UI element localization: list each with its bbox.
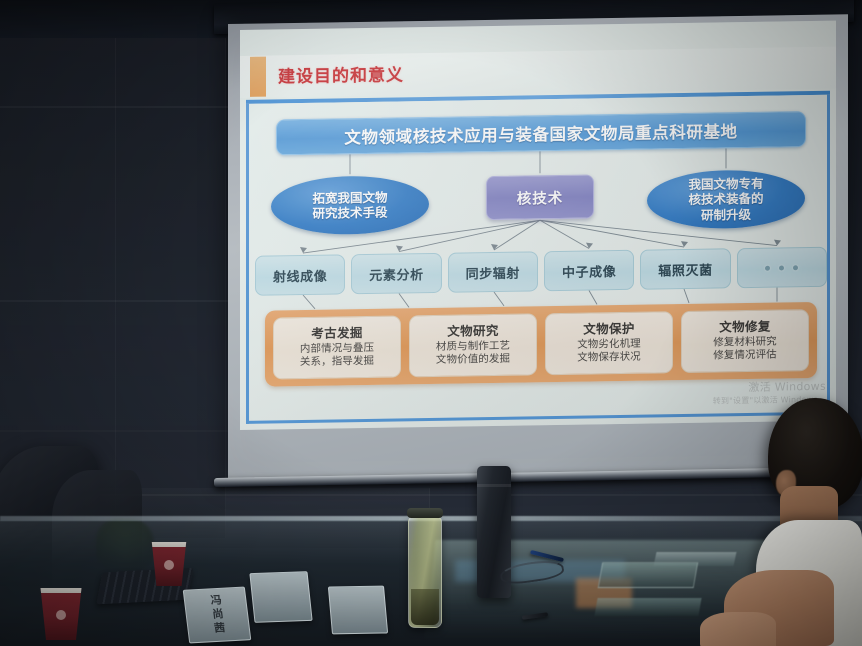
thermos-band [477,484,511,487]
tech-label-4: 中子成像 [562,261,616,281]
app-sub-3a: 文物劣化机理 [577,338,641,352]
tech-box-xray-imaging: 射线成像 [255,254,345,295]
core-technology-label: 核技术 [517,186,564,208]
glass-tea-bottle [408,516,442,628]
tech-box-more [737,247,827,288]
app-title-4: 文物修复 [719,320,771,336]
slide-content-frame: 文物领域核技术应用与装备国家文物局重点科研基地 拓宽我国文物 研究技术手段 核技… [246,95,830,424]
meeting-room-photo: 建设目的和意义 [0,0,862,646]
app-sub-1a: 内部情况与叠压 [300,342,374,356]
desk-nameplate-1: 冯尚茜 [183,587,252,644]
application-card-conservation: 文物保护 文物劣化机理 文物保存状况 [545,311,673,375]
goal-left-line-1: 拓宽我国文物 [312,189,387,205]
goal-right-line-2: 核技术装备的 [688,191,763,207]
wall-seam-upper [0,106,232,108]
cup-logo-icon [164,560,174,570]
tech-label-3: 同步辐射 [466,262,520,282]
attendee-hand [700,612,776,646]
goal-node-left: 拓宽我国文物 研究技术手段 [271,175,429,235]
app-sub-1b: 关系，指导发掘 [300,355,374,369]
goal-node-right: 我国文物专有 核技术装备的 研制升级 [647,169,805,229]
watermark-line-1: 激活 Windows [713,378,826,396]
application-band: 考古发掘 内部情况与叠压 关系，指导发掘 文物研究 材质与制作工艺 文物价值的发… [265,302,817,387]
tech-box-element-analysis: 元素分析 [351,253,441,294]
wall-seam-mid [0,300,232,302]
ellipsis-dots-icon [765,265,798,271]
app-title-3: 文物保护 [583,322,635,338]
application-card-archaeology: 考古发掘 内部情况与叠压 关系，指导发掘 [273,315,401,379]
application-card-restoration: 文物修复 修复材料研究 修复情况评估 [681,309,809,373]
tech-label-1: 射线成像 [273,265,327,285]
goal-left-line-2: 研究技术手段 [312,205,387,221]
tea-leaves [411,589,439,625]
tech-box-neutron-imaging: 中子成像 [544,250,634,291]
app-title-2: 文物研究 [447,324,499,340]
tech-label-5: 辐照灭菌 [658,259,712,279]
tech-box-synchrotron-radiation: 同步辐射 [448,251,538,292]
goal-right-line-1: 我国文物专有 [688,176,763,192]
nameplate-text-1: 冯尚茜 [206,594,227,637]
app-sub-4b: 修复情况评估 [713,348,777,362]
notebook [598,562,699,588]
slide-title: 建设目的和意义 [278,60,404,87]
app-sub-2b: 文物价值的发掘 [436,353,510,367]
desk-nameplate-3 [328,586,388,635]
notebook-second [594,598,701,616]
app-sub-4a: 修复材料研究 [713,336,777,350]
tea-bottle-cap [407,508,443,518]
application-card-research: 文物研究 材质与制作工艺 文物价值的发掘 [409,313,537,377]
wall-panel-2 [116,38,226,538]
app-sub-3b: 文物保存状况 [577,351,641,365]
goal-right-line-3: 研制升级 [701,207,751,223]
technology-row: 射线成像 元素分析 同步辐射 中子成像 辐照灭菌 [255,247,827,296]
project-title-banner: 文物领域核技术应用与装备国家文物局重点科研基地 [276,111,806,155]
project-title-text: 文物领域核技术应用与装备国家文物局重点科研基地 [344,118,737,148]
tech-box-irradiation-sterilization: 辐照灭菌 [640,248,730,289]
app-sub-2a: 材质与制作工艺 [436,340,510,354]
app-title-1: 考古发掘 [311,326,363,342]
tech-label-2: 元素分析 [369,264,423,284]
core-technology-node: 核技术 [486,174,594,220]
cup-logo-icon [56,610,66,620]
presentation-slide: 建设目的和意义 [240,21,836,430]
desk-nameplate-2 [249,571,312,623]
slide-title-accent-bar [250,57,266,97]
